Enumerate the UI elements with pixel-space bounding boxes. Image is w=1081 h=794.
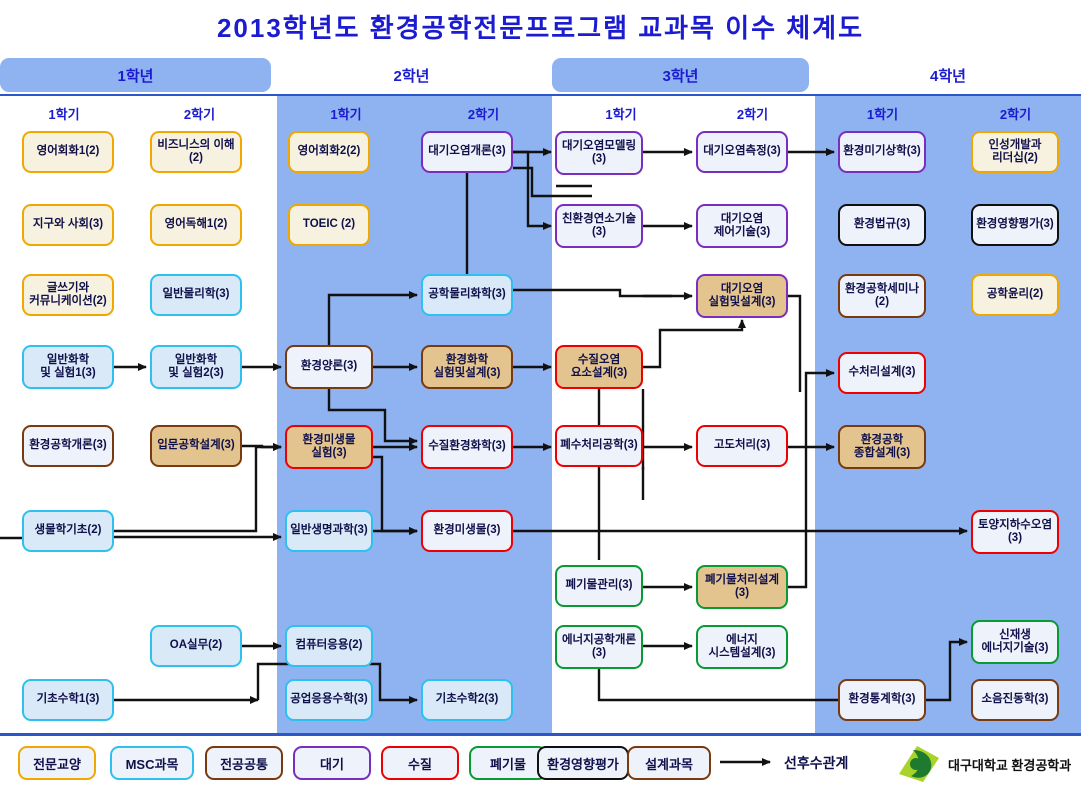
course-box-airexdes[interactable]: 대기오염 실험및설계(3) [696, 274, 788, 318]
course-label: 일반물리학(3) [163, 288, 230, 301]
course-box-biobase[interactable]: 생물학기초(2) [22, 510, 114, 552]
course-box-airctrl[interactable]: 대기오염 제어기술(3) [696, 204, 788, 248]
course-box-envstat[interactable]: 환경통계학(3) [838, 679, 926, 721]
course-label: 인성개발과 리더십(2) [989, 139, 1042, 165]
course-box-seminar[interactable]: 환경공학세미나 (2) [838, 274, 926, 318]
course-box-earth[interactable]: 지구와 사회(3) [22, 204, 114, 246]
year-band-label: 2학년 [394, 65, 430, 86]
course-label: 비즈니스의 이해 (2) [157, 139, 234, 165]
course-label: 토양지하수오염 (3) [978, 519, 1052, 545]
semester-band-label: 2학기 [184, 104, 215, 123]
course-box-micromet[interactable]: 환경미기상학(3) [838, 131, 926, 173]
semester-band-label: 2학기 [468, 104, 499, 123]
legend-item-label: 대기 [320, 754, 344, 773]
course-box-airintro[interactable]: 대기오염개론(3) [421, 131, 513, 173]
course-box-introdes[interactable]: 입문공학설계(3) [150, 425, 242, 467]
course-box-genlife[interactable]: 일반생명과학(3) [285, 510, 373, 552]
course-label: 환경공학 종합설계(3) [854, 434, 910, 460]
course-label: OA실무(2) [170, 639, 222, 652]
course-label: 폐수처리공학(3) [560, 439, 638, 452]
course-label: 환경공학세미나 (2) [845, 283, 919, 309]
course-box-renewable[interactable]: 신재생 에너지기술(3) [971, 620, 1059, 664]
course-box-wastewater[interactable]: 폐수처리공학(3) [555, 425, 643, 467]
course-box-wastedes[interactable]: 폐기물처리설계 (3) [696, 565, 788, 609]
course-box-wastemgmt[interactable]: 폐기물관리(3) [555, 565, 643, 607]
course-box-waterdes[interactable]: 수질오염 요소설계(3) [555, 345, 643, 389]
course-box-basemath2[interactable]: 기초수학2(3) [421, 679, 513, 721]
course-box-eng1[interactable]: 영어회화1(2) [22, 131, 114, 173]
course-label: 글쓰기와 커뮤니케이션(2) [29, 282, 107, 308]
legend-item-1[interactable]: MSC과목 [110, 746, 194, 780]
year-band-4: 4학년 [815, 58, 1081, 92]
course-label: 폐기물처리설계 (3) [705, 574, 779, 600]
course-label: 수처리설계(3) [849, 366, 916, 379]
course-label: 지구와 사회(3) [33, 218, 103, 231]
legend-item-7[interactable]: 설계과목 [627, 746, 711, 780]
course-box-biz[interactable]: 비즈니스의 이해 (2) [150, 131, 242, 173]
legend-relation-label: 선후수관계 [784, 753, 848, 773]
course-label: 공학윤리(2) [987, 288, 1043, 301]
course-label: 기초수학1(3) [37, 693, 100, 706]
page-title: 2013학년도 환경공학전문프로그램 교과목 이수 체계도 [0, 8, 1081, 45]
course-label: 수질환경화학(3) [428, 440, 506, 453]
course-box-waterproc[interactable]: 수처리설계(3) [838, 352, 926, 394]
course-label: 대기오염 실험및설계(3) [709, 283, 776, 309]
course-box-eng2[interactable]: 영어회화2(2) [288, 131, 370, 173]
course-label: 폐기물관리(3) [566, 579, 633, 592]
course-box-writing[interactable]: 글쓰기와 커뮤니케이션(2) [22, 274, 114, 316]
legend-item-2[interactable]: 전공공통 [205, 746, 283, 780]
course-label: 공학물리화학(3) [428, 288, 506, 301]
header-divider-top [0, 94, 1081, 96]
course-label: 컴퓨터응용(2) [296, 639, 363, 652]
course-box-engphys[interactable]: 공학물리화학(3) [421, 274, 513, 316]
legend-item-label: MSC과목 [126, 754, 179, 773]
course-box-toeic[interactable]: TOEIC (2) [288, 204, 370, 246]
legend-item-4[interactable]: 수질 [381, 746, 459, 780]
course-box-energysys[interactable]: 에너지 시스템설계(3) [696, 625, 788, 669]
course-box-noise[interactable]: 소음진동학(3) [971, 679, 1059, 721]
course-box-advtreat[interactable]: 고도처리(3) [696, 425, 788, 467]
course-label: 수질오염 요소설계(3) [571, 354, 627, 380]
semester-band-label: 1학기 [605, 104, 636, 123]
course-label: 환경통계학(3) [849, 693, 916, 706]
course-label: 소음진동학(3) [982, 693, 1049, 706]
semester-band-label: 1학기 [330, 104, 361, 123]
course-box-engread1[interactable]: 영어독해1(2) [150, 204, 242, 246]
course-label: 대기오염측정(3) [703, 145, 781, 158]
course-box-genchem2[interactable]: 일반화학 및 실험2(3) [150, 345, 242, 389]
legend-arrow-icon [718, 754, 780, 770]
year-band-label: 3학년 [663, 65, 699, 86]
legend-bar: 전문교양MSC과목전공공통대기수질폐기물환경영향평가설계과목 선후수관계 대구대… [0, 733, 1081, 794]
course-label: 환경법규(3) [854, 218, 910, 231]
course-box-basemath1[interactable]: 기초수학1(3) [22, 679, 114, 721]
semester-band-label: 2학기 [1000, 104, 1031, 123]
legend-item-5[interactable]: 폐기물 [469, 746, 547, 780]
course-box-genphys[interactable]: 일반물리학(3) [150, 274, 242, 316]
course-box-airmodel[interactable]: 대기오염모델링 (3) [555, 131, 643, 175]
course-label: 영어회화2(2) [298, 145, 361, 158]
legend-item-label: 폐기물 [490, 754, 526, 773]
semester-band-label: 2학기 [737, 104, 768, 123]
course-box-oa[interactable]: OA실무(2) [150, 625, 242, 667]
year-band-1: 1학년 [0, 58, 271, 92]
course-box-genchem1[interactable]: 일반화학 및 실험1(3) [22, 345, 114, 389]
course-box-envassess[interactable]: 환경영향평가(3) [971, 204, 1059, 246]
course-label: 환경미생물 실험(3) [303, 434, 356, 460]
course-label: 생물학기초(2) [35, 524, 102, 537]
course-box-envchemex[interactable]: 환경화학 실험및설계(3) [421, 345, 513, 389]
course-label: 대기오염모델링 (3) [562, 140, 636, 166]
university-label: 대구대학교 환경공학과 [948, 755, 1071, 774]
course-box-energyint[interactable]: 에너지공학개론 (3) [555, 625, 643, 669]
year-band-label: 1학년 [118, 65, 154, 86]
course-label: TOEIC (2) [303, 218, 355, 231]
legend-top-rule [0, 733, 1081, 736]
course-box-indmath[interactable]: 공업응용수학(3) [285, 679, 373, 721]
legend-item-label: 전문교양 [33, 754, 81, 773]
course-label: 에너지공학개론 (3) [562, 634, 636, 660]
course-box-envlogic[interactable]: 환경양론(3) [285, 345, 373, 389]
course-label: 환경미기상학(3) [843, 145, 921, 158]
course-label: 신재생 에너지기술(3) [982, 629, 1049, 655]
course-label: 환경공학개론(3) [29, 439, 107, 452]
legend-item-0[interactable]: 전문교양 [18, 746, 96, 780]
course-label: 대기오염 제어기술(3) [714, 213, 770, 239]
legend-item-label: 환경영향평가 [547, 754, 619, 773]
semester-band-3: 1학기 [277, 100, 415, 126]
course-label: 일반생명과학(3) [290, 524, 368, 537]
course-box-soilgw[interactable]: 토양지하수오염 (3) [971, 510, 1059, 554]
course-label: 에너지 시스템설계(3) [709, 634, 776, 660]
course-label: 고도처리(3) [714, 439, 770, 452]
course-label: 일반화학 및 실험2(3) [168, 354, 223, 380]
course-box-envmicro[interactable]: 환경미생물(3) [421, 510, 513, 552]
course-box-airmeas[interactable]: 대기오염측정(3) [696, 131, 788, 173]
semester-band-7: 1학기 [815, 100, 950, 126]
course-box-ethics[interactable]: 공학윤리(2) [971, 274, 1059, 316]
course-box-envintro[interactable]: 환경공학개론(3) [22, 425, 114, 467]
legend-item-3[interactable]: 대기 [293, 746, 371, 780]
course-label: 환경화학 실험및설계(3) [434, 354, 501, 380]
semester-band-2: 2학기 [128, 100, 271, 126]
course-box-waterchem[interactable]: 수질환경화학(3) [421, 425, 513, 469]
course-box-ecocomb[interactable]: 친환경연소기술 (3) [555, 204, 643, 248]
legend-item-label: 전공공통 [220, 754, 268, 773]
course-box-compapp[interactable]: 컴퓨터응용(2) [285, 625, 373, 667]
semester-band-label: 1학기 [48, 104, 79, 123]
legend-item-label: 수질 [408, 754, 432, 773]
year-band-label: 4학년 [930, 65, 966, 86]
course-box-envlaw[interactable]: 환경법규(3) [838, 204, 926, 246]
year-band-3: 3학년 [552, 58, 809, 92]
semester-band-5: 1학기 [552, 100, 690, 126]
course-label: 영어독해1(2) [165, 218, 228, 231]
course-label: 입문공학설계(3) [157, 439, 235, 452]
university-logo-icon [893, 744, 941, 784]
year-band-2: 2학년 [277, 58, 546, 92]
semester-band-6: 2학기 [690, 100, 815, 126]
course-box-capstone[interactable]: 환경공학 종합설계(3) [838, 425, 926, 469]
course-label: 영어회화1(2) [37, 145, 100, 158]
semester-band-label: 1학기 [867, 104, 898, 123]
semester-band-8: 2학기 [950, 100, 1081, 126]
course-label: 환경영향평가(3) [976, 218, 1054, 231]
course-label: 기초수학2(3) [436, 693, 499, 706]
legend-item-label: 설계과목 [645, 754, 693, 773]
course-label: 대기오염개론(3) [428, 145, 506, 158]
course-box-leader[interactable]: 인성개발과 리더십(2) [971, 131, 1059, 173]
course-label: 환경양론(3) [301, 360, 357, 373]
legend-item-6[interactable]: 환경영향평가 [537, 746, 629, 780]
course-label: 친환경연소기술 (3) [562, 213, 636, 239]
course-label: 공업응용수학(3) [290, 693, 368, 706]
course-box-envmicroex[interactable]: 환경미생물 실험(3) [285, 425, 373, 469]
semester-band-4: 2학기 [415, 100, 552, 126]
semester-band-1: 1학기 [0, 100, 128, 126]
course-label: 환경미생물(3) [434, 524, 501, 537]
course-label: 일반화학 및 실험1(3) [40, 354, 95, 380]
